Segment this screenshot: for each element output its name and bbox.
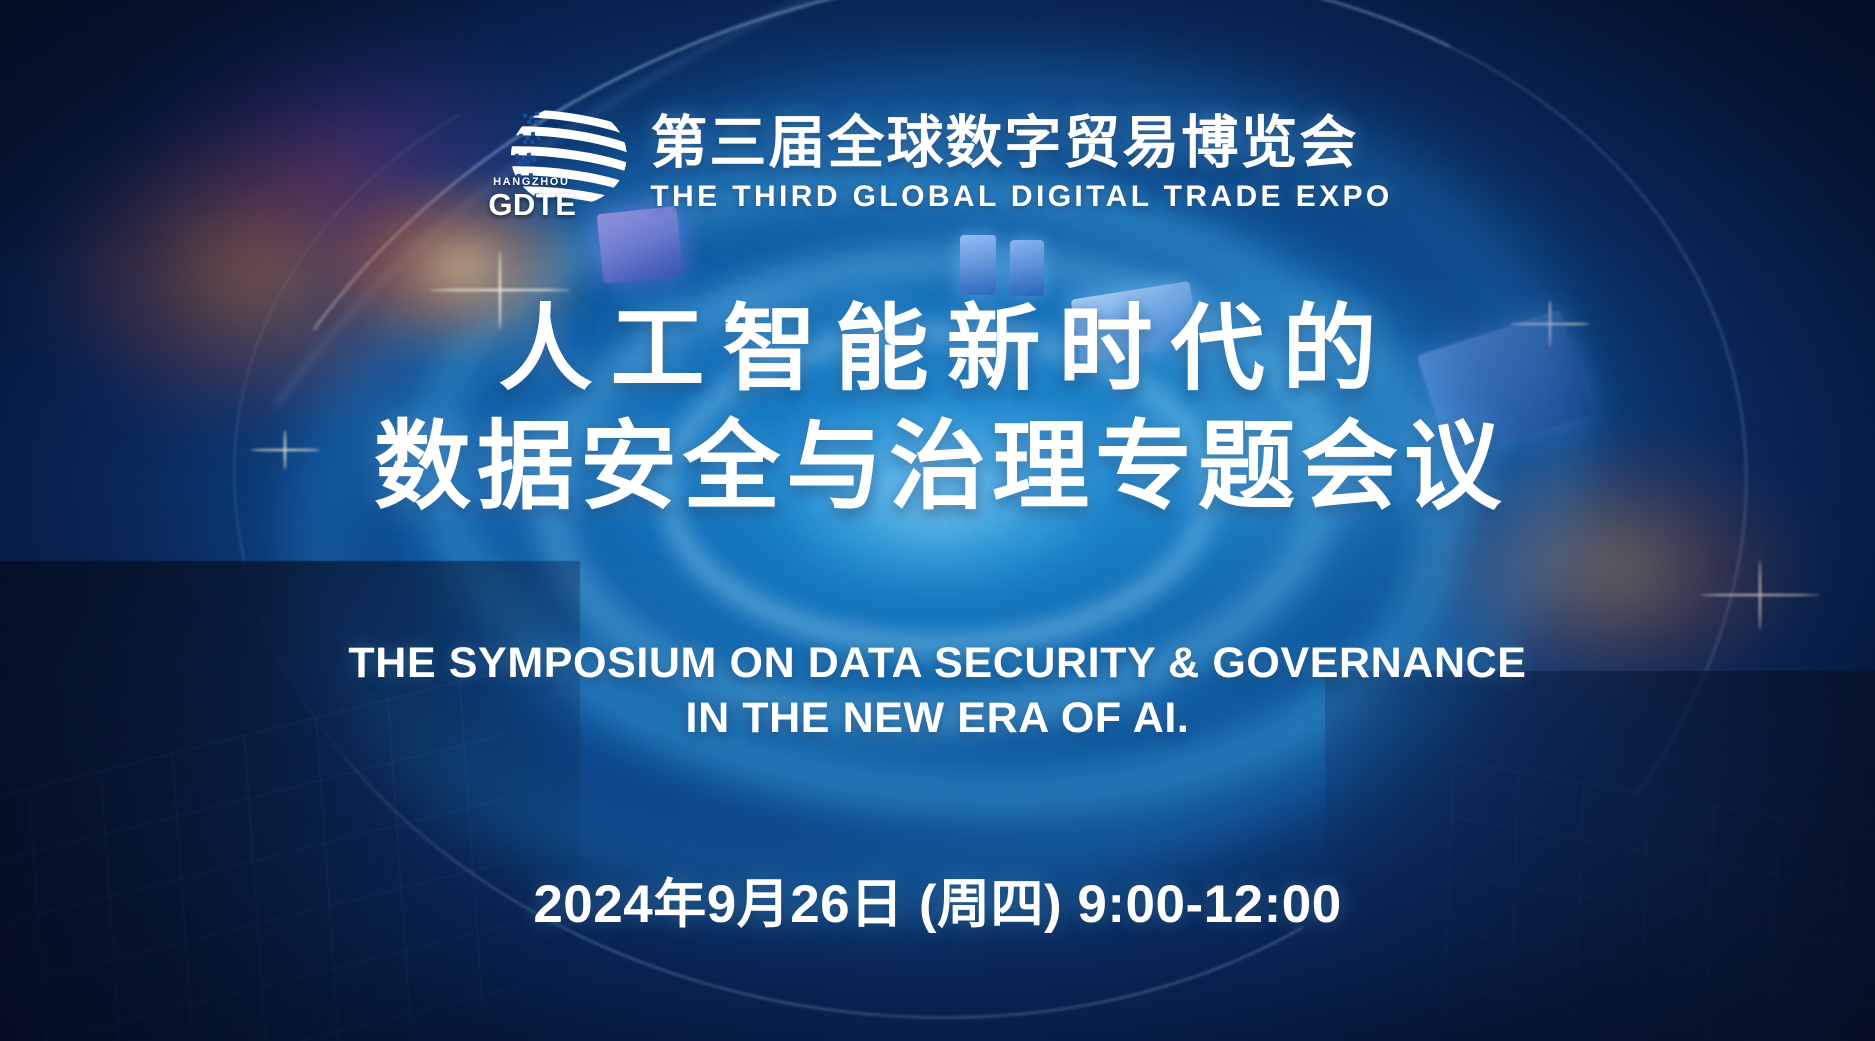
subtitle-line-2: IN THE NEW ERA OF AI. — [288, 691, 1588, 746]
subtitle-line-1: THE SYMPOSIUM ON DATA SECURITY & GOVERNA… — [288, 636, 1588, 691]
event-poster: HANGZHOU GDTE 第三届全球数字贸易博览会 THE THIRD GLO… — [0, 0, 1875, 1041]
event-datetime: 2024年9月26日 (周四) 9:00-12:00 — [533, 862, 1341, 938]
poster-content: HANGZHOU GDTE 第三届全球数字贸易博览会 THE THIRD GLO… — [0, 0, 1875, 1041]
event-schedule: 2024年9月26日 (周四) 9:00-12:00 — [533, 862, 1341, 938]
headline-line-1: 人工智能新时代的 — [238, 296, 1638, 402]
headline-line-2: 数据安全与治理专题会议 — [238, 412, 1638, 522]
expo-name-chinese: 第三届全球数字贸易博览会 — [650, 113, 1392, 173]
expo-name-english: THE THIRD GLOBAL DIGITAL TRADE EXPO — [650, 180, 1392, 213]
gdte-wordmark: HANGZHOU GDTE — [488, 177, 574, 220]
headline: 人工智能新时代的 数据安全与治理专题会议 — [238, 296, 1638, 522]
wordmark-abbreviation: GDTE — [488, 189, 574, 220]
subtitle: THE SYMPOSIUM ON DATA SECURITY & GOVERNA… — [288, 636, 1588, 747]
expo-lockup: HANGZHOU GDTE 第三届全球数字贸易博览会 THE THIRD GLO… — [482, 104, 1392, 222]
expo-names: 第三届全球数字贸易博览会 THE THIRD GLOBAL DIGITAL TR… — [650, 113, 1392, 213]
globe-stripes-logo-icon: HANGZHOU GDTE — [482, 104, 632, 222]
